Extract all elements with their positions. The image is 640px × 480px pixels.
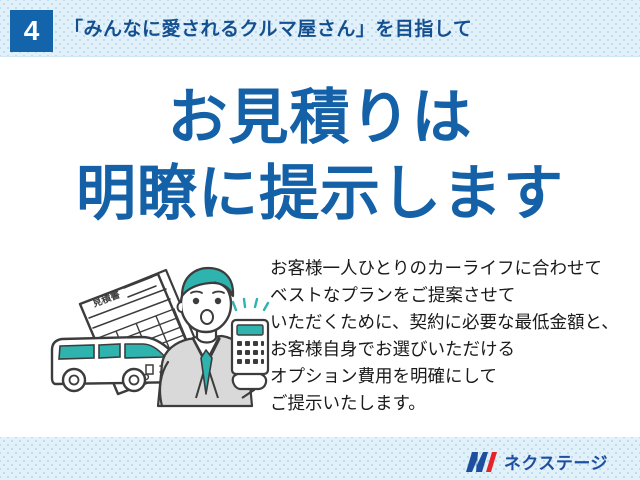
- headline: お見積りは 明瞭に提示します: [0, 80, 640, 232]
- calculator-icon: [232, 320, 268, 374]
- nextage-logo: ネクステージ: [465, 449, 608, 474]
- sparkle-icon: [233, 299, 268, 310]
- promo-slide: 4 「みんなに愛されるクルマ屋さん」を目指して お見積りは 明瞭に提示します お…: [0, 0, 640, 480]
- step-number-badge: 4: [10, 10, 53, 52]
- brand-name: ネクステージ: [504, 449, 608, 474]
- headline-line-1: お見積りは: [0, 80, 640, 156]
- body-line: お客様自身でお選びいただける: [270, 337, 635, 364]
- nextage-n-mark-icon: [465, 451, 497, 473]
- body-line: オプション費用を明確にして: [270, 364, 635, 391]
- header-divider: [0, 56, 640, 57]
- illustration-salesman-quote-van: 見積書: [46, 258, 274, 428]
- body-line: いただくために、契約に必要な最低金額と、: [270, 310, 635, 337]
- body-line: ご提示いたします。: [270, 391, 635, 418]
- body-copy: お客様一人ひとりのカーライフに合わせて ベストなプランをご提案させて いただくた…: [270, 256, 635, 418]
- body-line: お客様一人ひとりのカーライフに合わせて: [270, 256, 635, 283]
- body-line: ベストなプランをご提案させて: [270, 283, 635, 310]
- headline-line-2: 明瞭に提示します: [0, 156, 640, 232]
- header-title: 「みんなに愛されるクルマ屋さん」を目指して: [64, 14, 472, 41]
